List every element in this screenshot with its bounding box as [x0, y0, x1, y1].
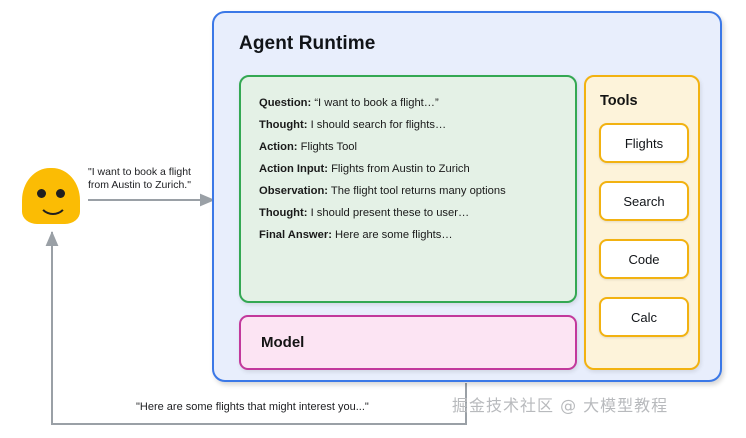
- trace-line-key: Action:: [259, 141, 298, 153]
- trace-line: Action: Flights Tool: [259, 136, 575, 158]
- user-smiley-avatar: [22, 168, 80, 224]
- request-message-label: "I want to book a flight from Austin to …: [88, 166, 191, 193]
- trace-line-key: Question:: [259, 97, 311, 109]
- tool-chip-label: Calc: [631, 310, 657, 325]
- trace-line: Observation: The flight tool returns man…: [259, 180, 575, 202]
- tool-chip-label: Code: [628, 252, 659, 267]
- tools-panel-title: Tools: [600, 93, 638, 109]
- trace-line-value: The flight tool returns many options: [331, 185, 506, 197]
- trace-line-key: Action Input:: [259, 163, 328, 175]
- model-box: Model: [239, 315, 577, 370]
- trace-line-key: Thought:: [259, 119, 307, 131]
- trace-line: Thought: I should search for flights…: [259, 114, 575, 136]
- avatar-face-shape: [22, 168, 80, 224]
- trace-line: Action Input: Flights from Austin to Zur…: [259, 158, 575, 180]
- tool-chip-label: Search: [623, 194, 664, 209]
- avatar-right-eye: [56, 189, 65, 198]
- trace-line-value: I should present these to user…: [311, 207, 470, 219]
- response-message-label: "Here are some flights that might intere…: [136, 400, 369, 414]
- trace-line-value: Flights from Austin to Zurich: [331, 163, 470, 175]
- avatar-left-eye: [37, 189, 46, 198]
- trace-line-value: Here are some flights…: [335, 229, 453, 241]
- tools-list: Flights Search Code Calc: [599, 123, 689, 355]
- tool-chip-search[interactable]: Search: [599, 181, 689, 221]
- tool-chip-calc[interactable]: Calc: [599, 297, 689, 337]
- trace-line-key: Observation:: [259, 185, 328, 197]
- tool-chip-label: Flights: [625, 136, 663, 151]
- agent-runtime-title: Agent Runtime: [239, 33, 375, 55]
- model-label: Model: [261, 334, 304, 351]
- trace-line-key: Thought:: [259, 207, 307, 219]
- watermark-text: 掘金技术社区 @ 大模型教程: [452, 392, 668, 416]
- trace-line-key: Final Answer:: [259, 229, 332, 241]
- tools-panel: Tools Flights Search Code Calc: [584, 75, 700, 370]
- agent-runtime-container: Agent Runtime Question: “I want to book …: [212, 11, 722, 382]
- trace-line-value: “I want to book a flight…”: [314, 97, 438, 109]
- trace-line-value: Flights Tool: [301, 141, 357, 153]
- trace-line-value: I should search for flights…: [311, 119, 447, 131]
- tool-chip-flights[interactable]: Flights: [599, 123, 689, 163]
- reasoning-trace-box: Question: “I want to book a flight…” Tho…: [239, 75, 577, 303]
- trace-line: Thought: I should present these to user…: [259, 202, 575, 224]
- tool-chip-code[interactable]: Code: [599, 239, 689, 279]
- trace-line: Question: “I want to book a flight…”: [259, 92, 575, 114]
- trace-line: Final Answer: Here are some flights…: [259, 224, 575, 246]
